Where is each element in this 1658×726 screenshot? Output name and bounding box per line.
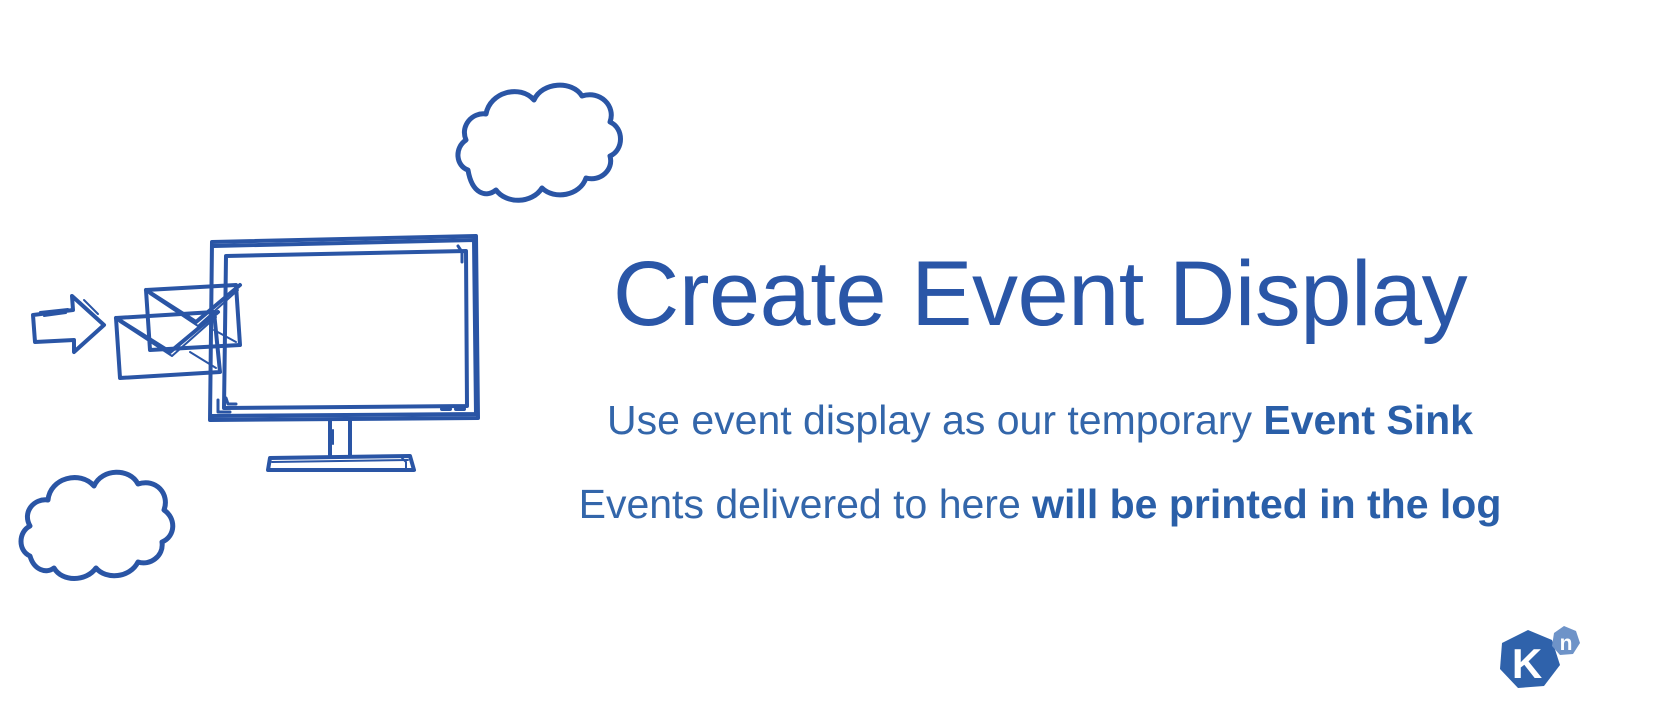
subtitle-line-2-text: Events delivered to here	[579, 481, 1033, 527]
envelope-icon	[116, 312, 220, 378]
page-title: Create Event Display	[540, 248, 1540, 340]
monitor-icon	[210, 236, 478, 470]
knative-logo-letter-k: K	[1512, 640, 1542, 687]
subtitle-line-2: Events delivered to here will be printed…	[540, 484, 1540, 525]
subtitle-line-1-emphasis: Event Sink	[1263, 397, 1473, 443]
knative-logo-letter-n: n	[1560, 632, 1573, 655]
arrow-icon	[33, 296, 104, 352]
envelope-icon	[146, 285, 240, 350]
knative-logo: K n	[1486, 608, 1586, 708]
cloud-icon	[21, 472, 173, 578]
slide-canvas: Create Event Display Use event display a…	[0, 0, 1658, 726]
slide-text-block: Create Event Display Use event display a…	[540, 248, 1540, 548]
cloud-icon	[458, 85, 621, 200]
subtitle-line-1-text: Use event display as our temporary	[607, 397, 1263, 443]
subtitle-line-1: Use event display as our temporary Event…	[540, 400, 1540, 441]
subtitle-line-2-emphasis: will be printed in the log	[1032, 481, 1501, 527]
